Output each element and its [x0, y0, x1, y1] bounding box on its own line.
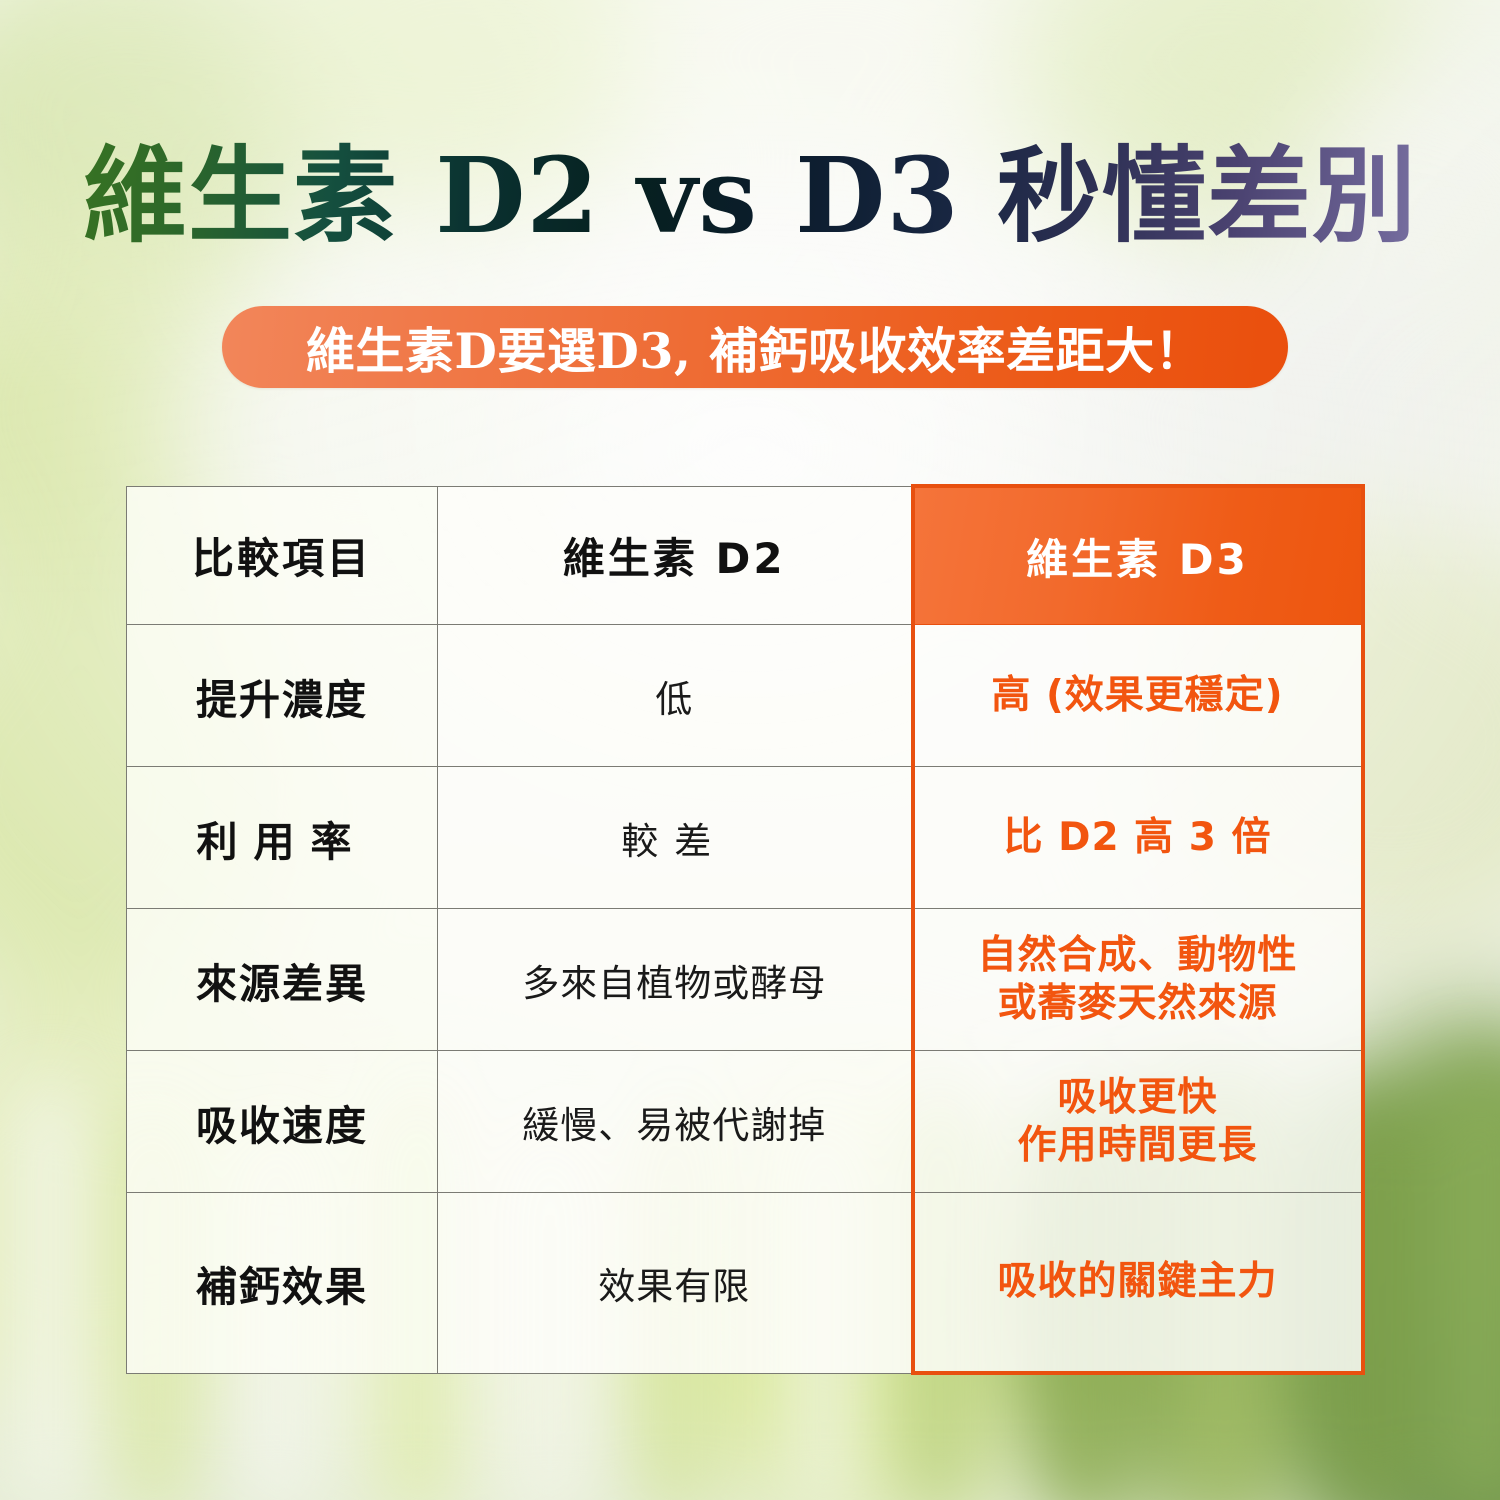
table-row: 提升濃度 低 高 (效果更穩定) [127, 625, 1363, 767]
row-item-label: 提升濃度 [196, 676, 368, 724]
page-title: 維生素 D2 vs D3 秒懂差別 [0, 138, 1500, 254]
grass-streak [20, 1080, 80, 1500]
table-header-row: 比較項目 維生素 D2 維生素 D3 [127, 486, 1363, 625]
row-item-label: 吸收速度 [196, 1102, 368, 1150]
row-d2-cell: 較差 [438, 767, 913, 909]
grass-streak [1430, 1060, 1500, 1500]
row-d3-value: 吸收更快 作用時間更長 [923, 1074, 1353, 1169]
row-item-cell: 補鈣效果 [127, 1193, 438, 1374]
header-cell-d2: 維生素 D2 [438, 486, 913, 625]
row-d2-cell: 效果有限 [438, 1193, 913, 1374]
row-d3-cell: 吸收更快 作用時間更長 [913, 1051, 1363, 1193]
table-row: 補鈣效果 效果有限 吸收的關鍵主力 [127, 1193, 1363, 1374]
row-item-label: 利用率 [197, 818, 368, 866]
header-label-item: 比較項目 [192, 534, 372, 583]
comparison-table-wrapper: 比較項目 維生素 D2 維生素 D3 提升濃度 低 [126, 484, 1362, 1364]
row-d3-cell: 自然合成、動物性 或蕎麥天然來源 [913, 909, 1363, 1051]
row-d3-value: 吸收的關鍵主力 [923, 1258, 1353, 1306]
row-d2-value: 多來自植物或酵母 [522, 962, 826, 1005]
header-cell-d3: 維生素 D3 [913, 486, 1363, 625]
row-d2-value: 緩慢、易被代謝掉 [522, 1104, 826, 1147]
row-item-cell: 來源差異 [127, 909, 438, 1051]
row-d2-value: 較差 [621, 820, 727, 863]
row-d2-cell: 多來自植物或酵母 [438, 909, 913, 1051]
row-d2-cell: 緩慢、易被代謝掉 [438, 1051, 913, 1193]
row-d2-cell: 低 [438, 625, 913, 767]
table-row: 利用率 較差 比 D2 高 3 倍 [127, 767, 1363, 909]
subtitle-text: 維生素D要選D3, 補鈣吸收效率差距大！ [306, 312, 1204, 383]
row-d3-cell: 吸收的關鍵主力 [913, 1193, 1363, 1374]
row-d2-value: 低 [655, 678, 693, 721]
row-item-label: 來源差異 [196, 960, 368, 1008]
header-cell-item: 比較項目 [127, 486, 438, 625]
row-item-cell: 提升濃度 [127, 625, 438, 767]
infographic-canvas: 維生素 D2 vs D3 秒懂差別 維生素D要選D3, 補鈣吸收效率差距大！ 比… [0, 0, 1500, 1500]
table-row: 來源差異 多來自植物或酵母 自然合成、動物性 或蕎麥天然來源 [127, 909, 1363, 1051]
header-label-d3: 維生素 D3 [1026, 535, 1249, 584]
row-item-cell: 利用率 [127, 767, 438, 909]
row-d2-value: 效果有限 [598, 1265, 750, 1308]
row-d3-cell: 高 (效果更穩定) [913, 625, 1363, 767]
row-item-label: 補鈣效果 [196, 1263, 368, 1311]
row-item-cell: 吸收速度 [127, 1051, 438, 1193]
header-label-d2: 維生素 D2 [563, 534, 786, 583]
row-d3-value: 比 D2 高 3 倍 [923, 814, 1353, 862]
table-row: 吸收速度 緩慢、易被代謝掉 吸收更快 作用時間更長 [127, 1051, 1363, 1193]
row-d3-cell: 比 D2 高 3 倍 [913, 767, 1363, 909]
row-d3-value: 高 (效果更穩定) [923, 672, 1353, 720]
comparison-table: 比較項目 維生素 D2 維生素 D3 提升濃度 低 [126, 484, 1365, 1375]
subtitle-banner: 維生素D要選D3, 補鈣吸收效率差距大！ [222, 306, 1288, 388]
row-d3-value: 自然合成、動物性 或蕎麥天然來源 [923, 932, 1353, 1027]
